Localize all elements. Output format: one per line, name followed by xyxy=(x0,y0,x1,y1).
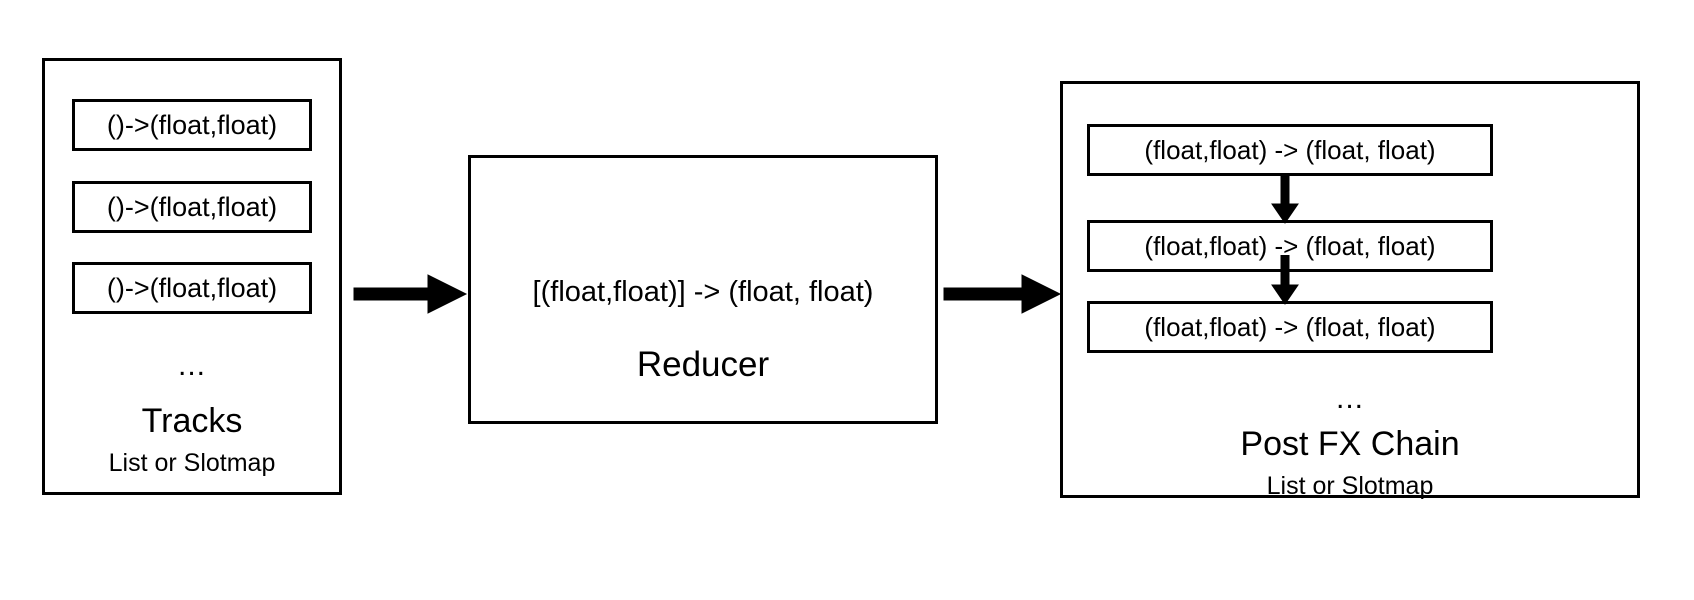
arrow-reducer-to-fx-icon xyxy=(942,268,1062,325)
track-signature-box: ()->(float,float) xyxy=(72,262,312,314)
tracks-group: ()->(float,float) ()->(float,float) ()->… xyxy=(42,58,342,495)
track-signature-box: ()->(float,float) xyxy=(72,99,312,151)
reducer-signature: [(float,float)] -> (float, float) xyxy=(471,278,935,307)
fx-ellipsis: ... xyxy=(1063,384,1637,414)
fx-signature-box: (float,float) -> (float, float) xyxy=(1087,124,1493,176)
tracks-ellipsis: ... xyxy=(45,351,339,381)
diagram-canvas: ()->(float,float) ()->(float,float) ()->… xyxy=(0,0,1694,600)
tracks-caption: Tracks xyxy=(45,404,339,438)
track-signature-box: ()->(float,float) xyxy=(72,181,312,233)
post-fx-chain-group: (float,float) -> (float, float) (float,f… xyxy=(1060,81,1640,498)
reducer-group: [(float,float)] -> (float, float) Reduce… xyxy=(468,155,938,424)
arrow-tracks-to-reducer-icon xyxy=(352,268,468,325)
arrow-fx-stage1-to-stage2-icon xyxy=(1268,174,1302,229)
arrow-fx-stage2-to-stage3-icon xyxy=(1268,255,1302,310)
tracks-subcaption: List or Slotmap xyxy=(45,451,339,476)
reducer-title: Reducer xyxy=(471,347,935,382)
fx-caption: Post FX Chain xyxy=(1063,427,1637,461)
fx-subcaption: List or Slotmap xyxy=(1063,474,1637,499)
